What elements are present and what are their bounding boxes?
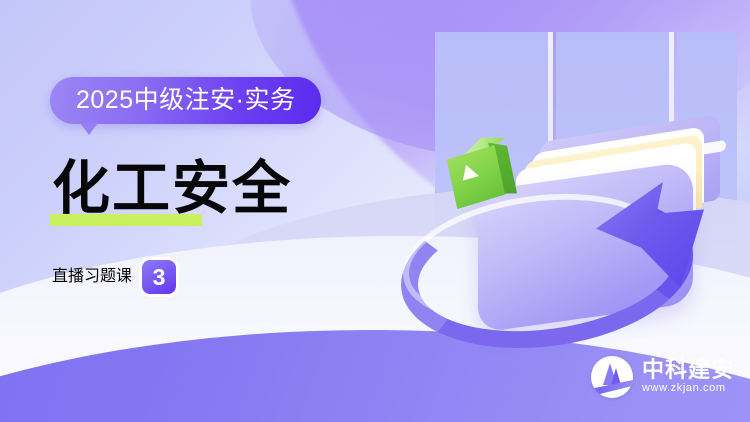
- headline-line-2: 直播习题课: [52, 262, 132, 286]
- brand-name: 中科建安: [642, 358, 734, 381]
- headline-line-2-row: 直播习题课 3: [52, 238, 472, 310]
- zkjan-mountain-icon: [591, 356, 633, 398]
- brand-url: www.zkjan.com: [642, 381, 734, 396]
- episode-number-label: 3: [153, 266, 166, 289]
- headline-line-1: 化工安全: [52, 154, 292, 222]
- brand-logo-text: 中科建安 www.zkjan.com: [642, 358, 734, 396]
- course-banner: 2025中级注安·实务 化工安全 直播习题课 3 中科建安 www.zkjan.…: [0, 0, 750, 422]
- episode-number-badge: 3: [142, 260, 176, 294]
- brand-logo[interactable]: 中科建安 www.zkjan.com: [591, 356, 734, 398]
- headline-block: 化工安全 直播习题课 3: [52, 152, 472, 310]
- tag-pointer-tail: [80, 123, 98, 135]
- course-tag-badge: 2025中级注安·实务: [50, 77, 321, 124]
- course-tag-label: 2025中级注安·实务: [76, 88, 295, 113]
- headline-line-1-row: 化工安全: [52, 152, 472, 224]
- logo-peak-right: [611, 368, 621, 385]
